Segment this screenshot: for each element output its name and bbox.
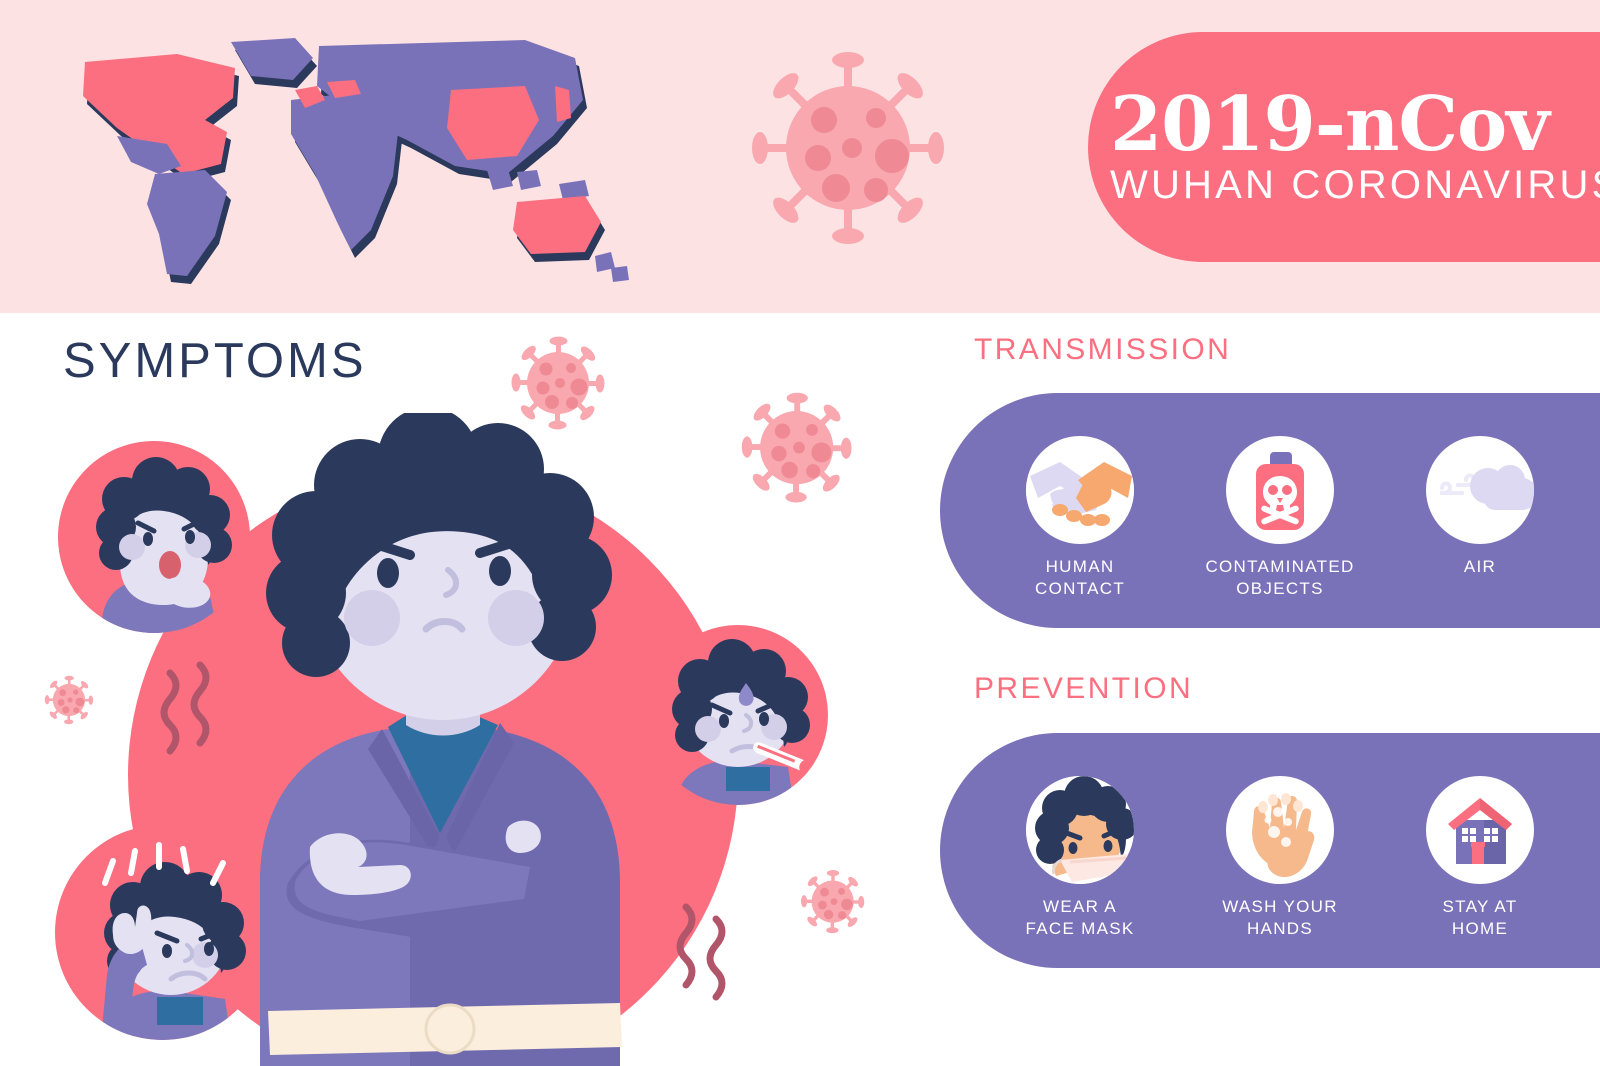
face-mask-icon (1026, 776, 1134, 884)
poison-bottle-icon (1226, 436, 1334, 544)
page-title: 2019-nCov (1110, 88, 1549, 162)
chills-squiggle-icon (164, 673, 176, 751)
world-map (55, 24, 655, 292)
coronavirus-particle-icon (748, 48, 948, 248)
prevention-items: WEAR A FACE MASK (980, 733, 1580, 968)
washing-hands-icon (1226, 776, 1334, 884)
transmission-label: HUMAN CONTACT (1035, 556, 1125, 600)
prevention-heading: PREVENTION (974, 672, 1193, 706)
transmission-label: CONTAMINATED OBJECTS (1205, 556, 1354, 600)
prevention-panel: WEAR A FACE MASK (940, 733, 1600, 968)
prevention-item-stay-home[interactable]: STAY AT HOME (1393, 776, 1568, 940)
prevention-item-face-mask[interactable]: WEAR A FACE MASK (993, 776, 1168, 940)
prevention-item-wash-hands[interactable]: WASH YOUR HANDS (1193, 776, 1368, 940)
infographic-page: 2019-nCov WUHAN CORONAVIRUS SYMPTOMS (0, 0, 1600, 1066)
transmission-panel: HUMAN CONTACT (940, 393, 1600, 628)
transmission-items: HUMAN CONTACT (980, 393, 1580, 628)
transmission-item-air[interactable]: AIR (1393, 436, 1568, 578)
house-icon (1426, 776, 1534, 884)
prevention-label: STAY AT HOME (1443, 896, 1518, 940)
prevention-label: WEAR A FACE MASK (1025, 896, 1134, 940)
headache-person-icon (55, 825, 270, 1040)
transmission-item-contaminated-objects[interactable]: CONTAMINATED OBJECTS (1193, 436, 1368, 600)
page-subtitle: WUHAN CORONAVIRUS (1110, 164, 1600, 206)
transmission-item-human-contact[interactable]: HUMAN CONTACT (993, 436, 1168, 600)
thermometer-fever-icon (648, 625, 828, 805)
cloud-wind-icon (1426, 436, 1534, 544)
handshake-icon (1026, 436, 1134, 544)
symptoms-illustration (0, 313, 930, 1066)
title-banner: 2019-nCov WUHAN CORONAVIRUS (1088, 32, 1600, 262)
transmission-heading: TRANSMISSION (974, 333, 1231, 367)
transmission-label: AIR (1464, 556, 1496, 578)
header-band: 2019-nCov WUHAN CORONAVIRUS (0, 0, 1600, 313)
coughing-person-icon (58, 441, 250, 633)
prevention-label: WASH YOUR HANDS (1222, 896, 1338, 940)
